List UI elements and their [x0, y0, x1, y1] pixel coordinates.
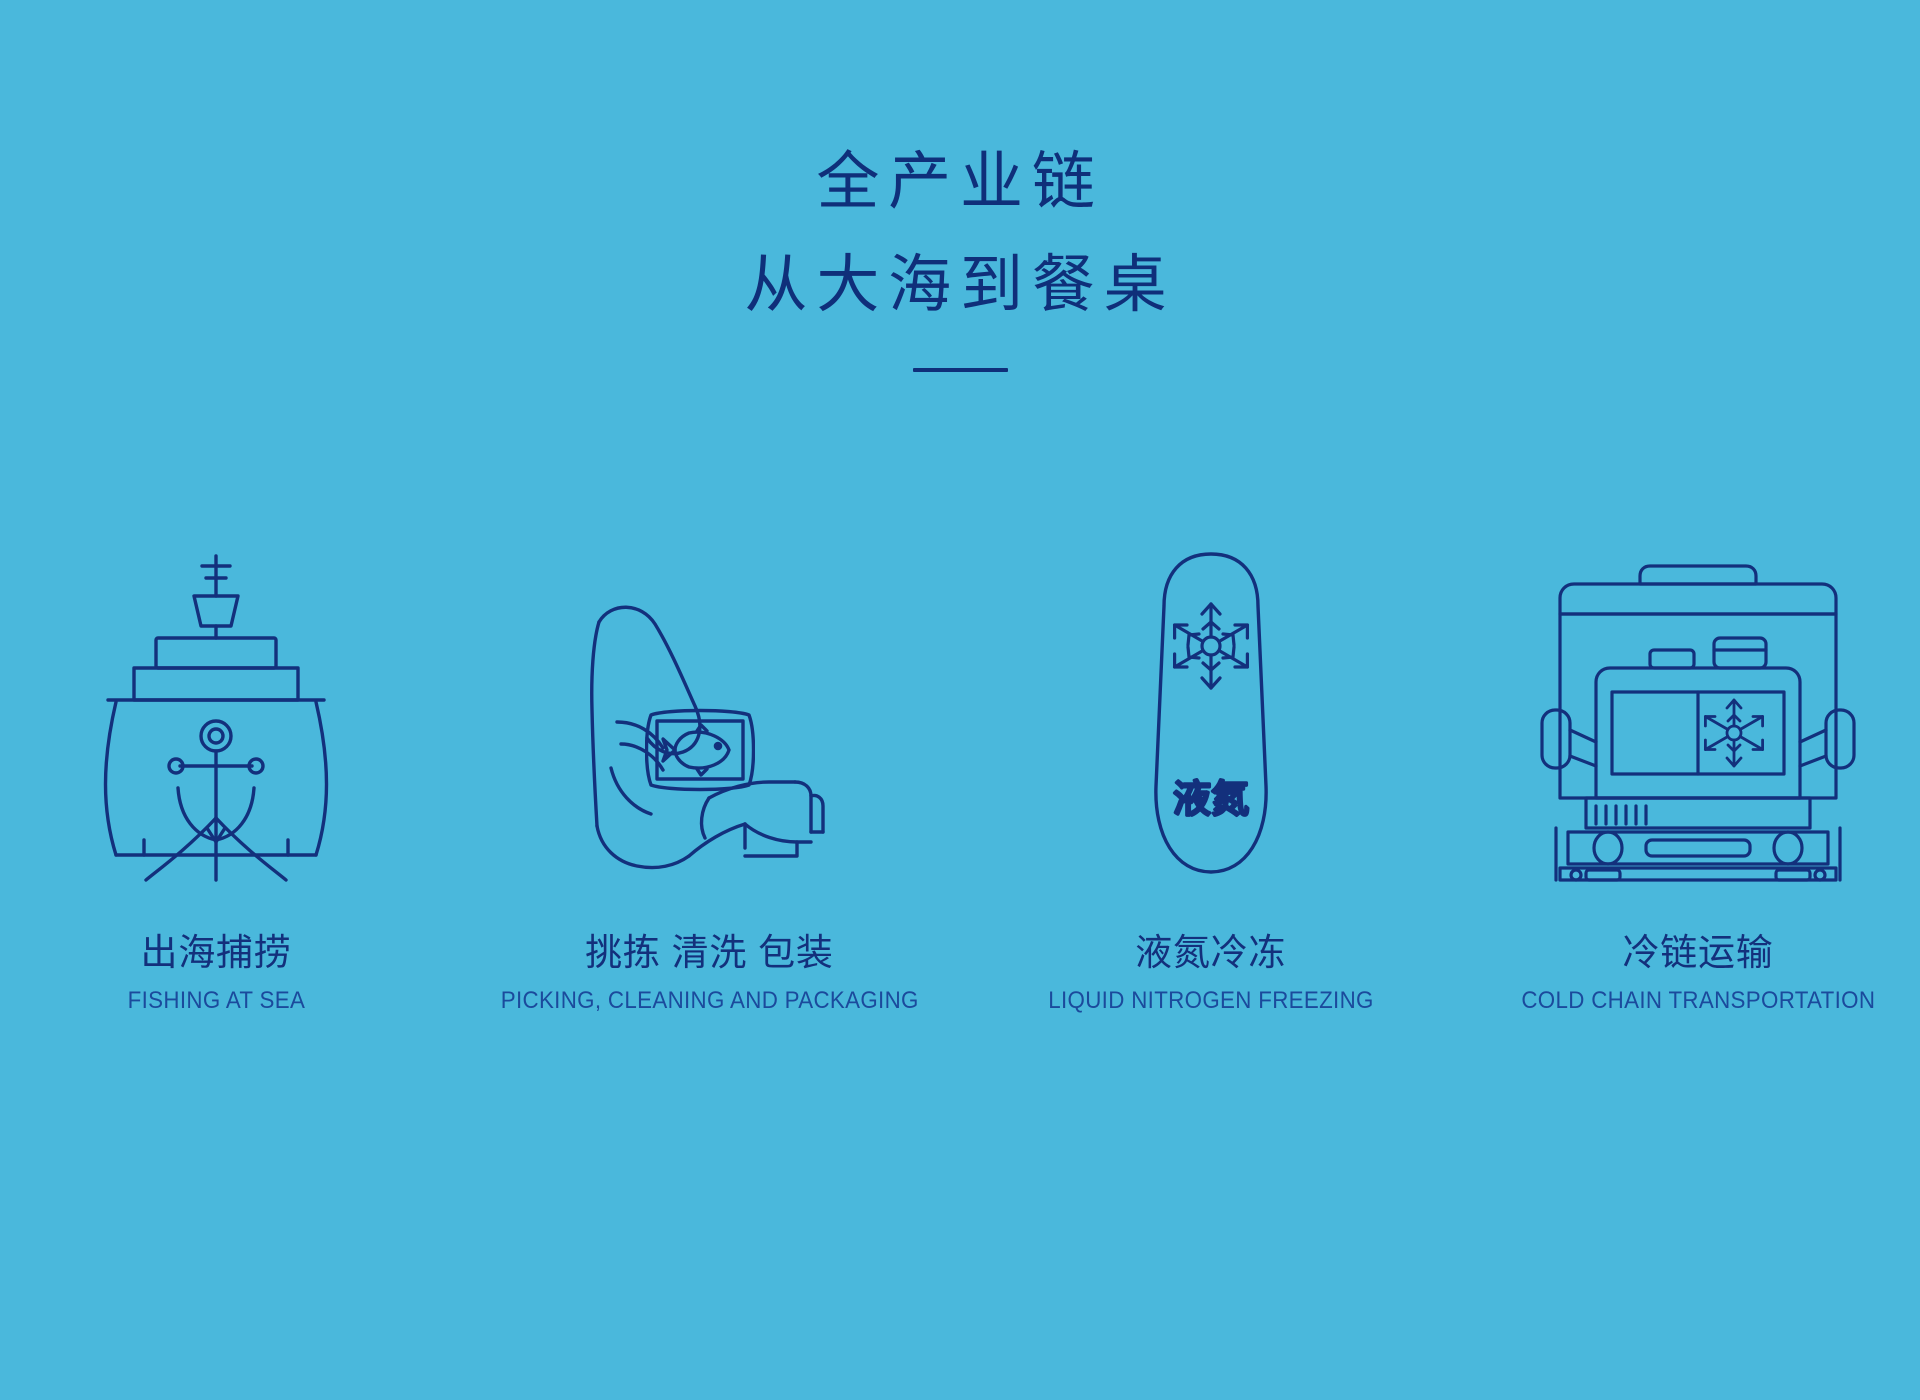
step-label-cn: 挑拣 清洗 包装	[485, 932, 934, 975]
step-label-en: FISHING AT SEA	[127, 987, 305, 1016]
step-label-en: PICKING, CLEANING AND PACKAGING	[500, 987, 918, 1016]
refrigerated-truck-icon	[1538, 560, 1858, 880]
step-label-cn: 出海捕捞	[121, 932, 312, 975]
step-liquid-nitrogen-freezing[interactable]: 液氮 液氮冷冻 LIQUID NITROGEN FREEZING	[971, 520, 1451, 1015]
fishing-boat-icon	[76, 550, 356, 880]
page-header: 全产业链 从大海到餐桌	[0, 150, 1920, 372]
snowflake-icon	[1174, 604, 1247, 688]
step-icon-container	[76, 520, 356, 880]
step-icon-container: 液氮	[1136, 520, 1286, 880]
step-icon-container	[1538, 520, 1858, 880]
step-labels: 液氮冷冻 LIQUID NITROGEN FREEZING	[1036, 932, 1386, 1015]
step-labels: 挑拣 清洗 包装 PICKING, CLEANING AND PACKAGING	[485, 932, 934, 1015]
step-icon-container	[559, 520, 859, 880]
step-label-en: LIQUID NITROGEN FREEZING	[1048, 987, 1374, 1016]
step-labels: 出海捕捞 FISHING AT SEA	[121, 932, 312, 1015]
page-title-primary: 全产业链	[0, 150, 1920, 213]
title-divider-wrap	[0, 368, 1920, 372]
page-canvas: 全产业链 从大海到餐桌	[0, 0, 1920, 1400]
process-steps-row: 出海捕捞 FISHING AT SEA	[0, 520, 1920, 1015]
step-labels: 冷链运输 COLD CHAIN TRANSPORTATION	[1508, 932, 1889, 1015]
step-label-en: COLD CHAIN TRANSPORTATION	[1521, 987, 1875, 1016]
nitrogen-tank-icon: 液氮	[1136, 550, 1286, 880]
step-label-cn: 冷链运输	[1508, 932, 1889, 975]
packaged-fish-icon	[645, 705, 755, 795]
tank-caption: 液氮	[1173, 777, 1249, 821]
snowflake-icon	[1705, 700, 1762, 766]
title-divider	[913, 368, 1008, 372]
step-cold-chain-transportation[interactable]: 冷链运输 COLD CHAIN TRANSPORTATION	[1458, 520, 1920, 1015]
page-title-secondary: 从大海到餐桌	[0, 253, 1920, 316]
step-fishing-at-sea[interactable]: 出海捕捞 FISHING AT SEA	[0, 520, 456, 1015]
step-label-cn: 液氮冷冻	[1036, 932, 1386, 975]
